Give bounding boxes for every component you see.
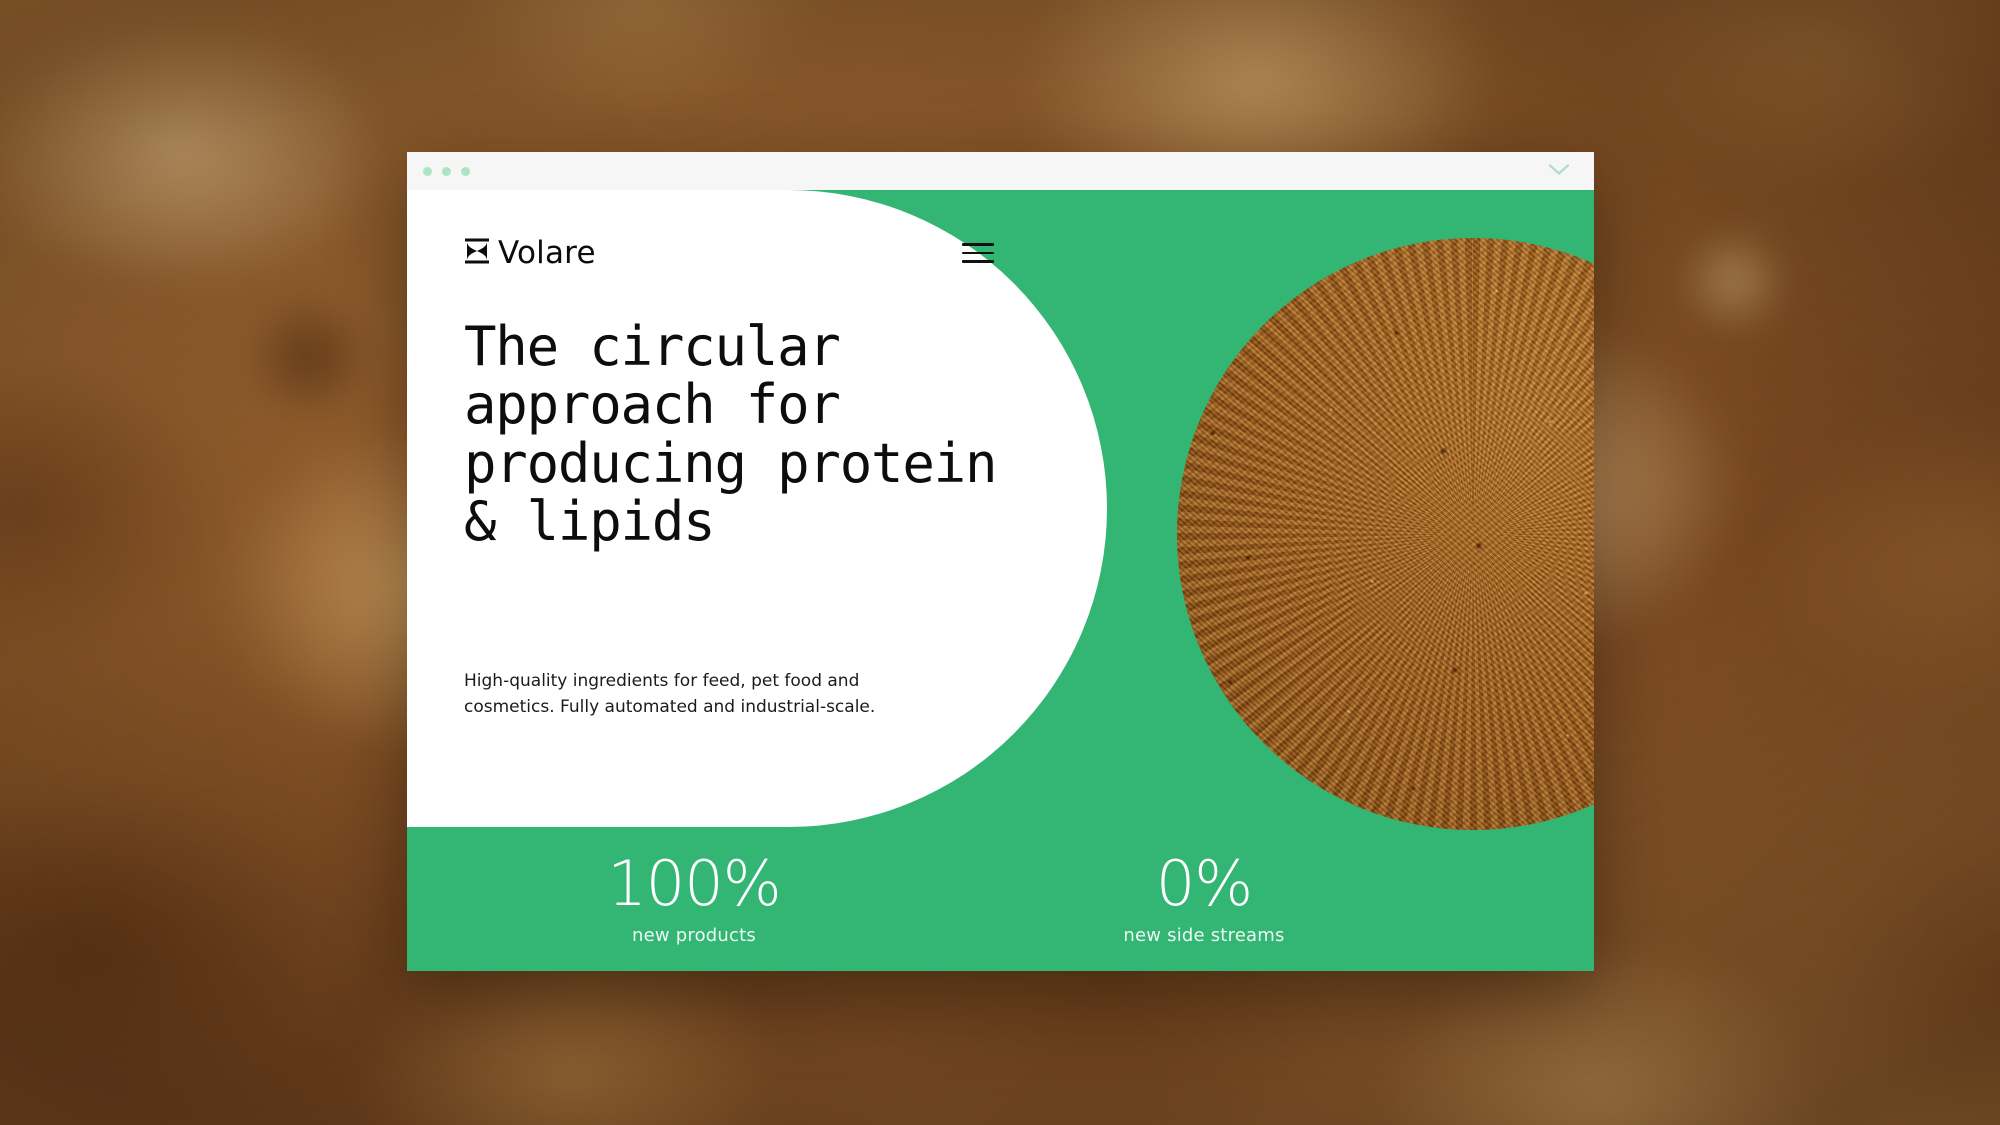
- chevron-down-icon[interactable]: [1548, 162, 1570, 181]
- stat-item-new-side-streams: 0% new side streams: [1054, 853, 1354, 946]
- protein-powder-circle-image: [1177, 238, 1594, 830]
- stat-value: 100%: [544, 853, 844, 915]
- browser-titlebar: [407, 152, 1594, 190]
- website-canvas: Volare The circular approach for produci…: [407, 190, 1594, 971]
- hourglass-logo-icon: [464, 237, 490, 269]
- site-header: Volare: [464, 237, 994, 269]
- brand-name: Volare: [498, 238, 596, 269]
- stat-label: new products: [544, 925, 844, 946]
- window-dot-minimize[interactable]: [442, 167, 451, 176]
- window-dot-maximize[interactable]: [461, 167, 470, 176]
- stat-item-new-products: 100% new products: [544, 853, 844, 946]
- hero-subcopy: High-quality ingredients for feed, pet f…: [464, 668, 984, 721]
- hamburger-line-1: [962, 243, 994, 246]
- powder-texture: [1177, 238, 1594, 830]
- hamburger-line-3: [962, 260, 994, 263]
- hamburger-line-2: [962, 252, 994, 255]
- stat-label: new side streams: [1054, 925, 1354, 946]
- browser-window: Volare The circular approach for produci…: [407, 152, 1594, 971]
- window-controls[interactable]: [423, 167, 470, 176]
- stats-strip: 100% new products 0% new side streams: [407, 827, 1594, 971]
- stat-value: 0%: [1054, 853, 1354, 915]
- brand-logo[interactable]: Volare: [464, 237, 596, 269]
- hamburger-menu-icon[interactable]: [962, 243, 994, 263]
- hero-headline: The circular approach for producing prot…: [464, 318, 1064, 551]
- window-dot-close[interactable]: [423, 167, 432, 176]
